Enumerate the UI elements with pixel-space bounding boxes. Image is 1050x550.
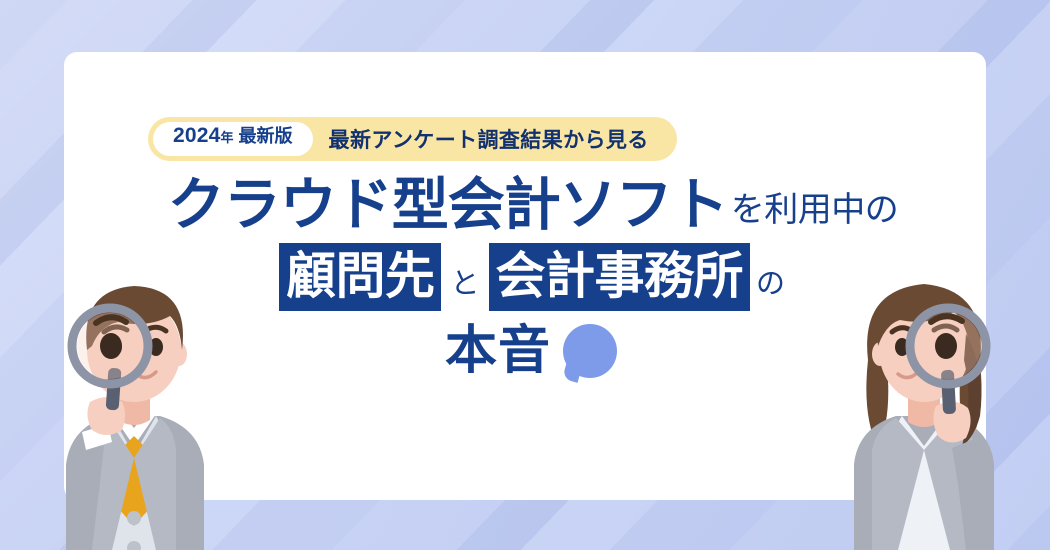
badge-tagline: 最新アンケート調査結果から見る	[329, 124, 649, 154]
illustration-businessman	[8, 250, 258, 550]
headline-line1-emphasis: クラウド型会計ソフト	[168, 176, 728, 234]
headline-particle: の	[756, 260, 785, 311]
headline-honne: 本音	[445, 325, 551, 377]
headline-highlight-box-1: 顧問先	[279, 243, 442, 311]
speech-bubble-icon	[563, 324, 617, 378]
businesswoman-svg	[798, 250, 1048, 550]
badge-year-suffix: 年	[221, 127, 234, 146]
illustration-businesswoman	[798, 250, 1048, 550]
headline-highlight-box-2: 会計事務所	[489, 243, 751, 311]
headline-line-1: クラウド型会計ソフト を利用中の	[16, 176, 1050, 234]
headline-line1-tail: を利用中の	[731, 188, 899, 234]
badge-year: 2024	[173, 124, 221, 148]
headline-conjunction: と	[450, 260, 479, 311]
businessman-svg	[8, 250, 258, 550]
badge-newest-label: 最新版	[239, 122, 293, 148]
year-badge-pill: 2024年最新版	[153, 122, 313, 156]
hero-banner: 2024年最新版 最新アンケート調査結果から見る クラウド型会計ソフト を利用中…	[0, 0, 1050, 550]
badge-bar: 2024年最新版 最新アンケート調査結果から見る	[148, 117, 677, 161]
